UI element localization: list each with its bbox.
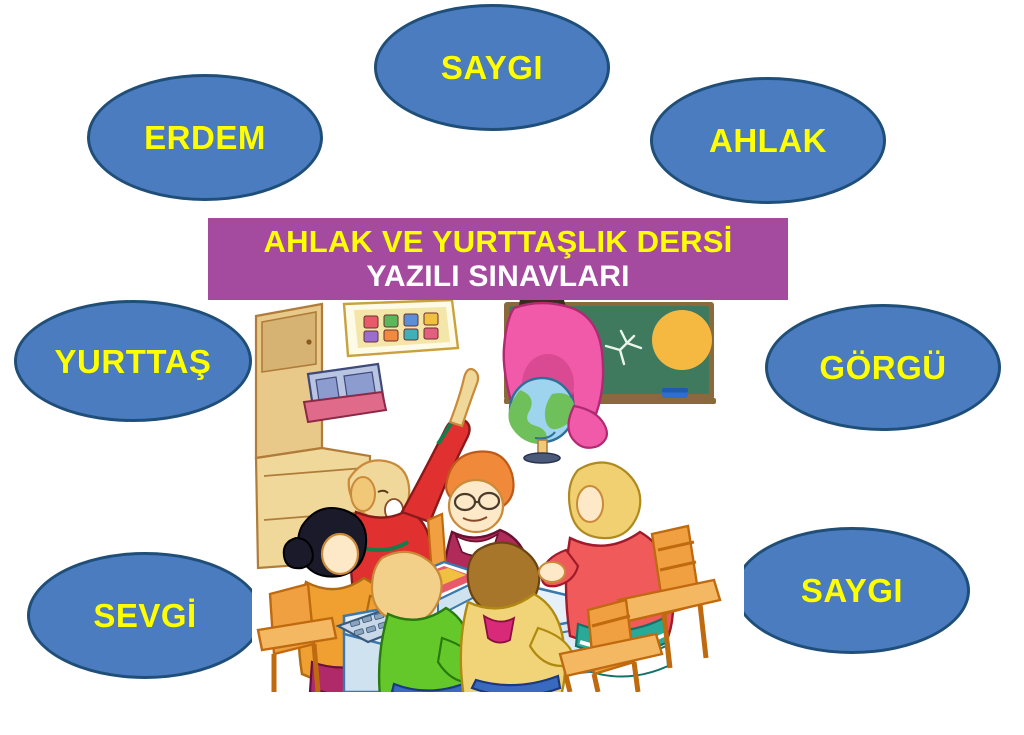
concept-label-erdem: ERDEM [144, 121, 266, 154]
concept-ellipse-sevgi[interactable]: SEVGİ [27, 552, 263, 679]
concept-ellipse-saygi-top[interactable]: SAYGI [374, 4, 610, 131]
concept-label-sevgi: SEVGİ [93, 599, 196, 632]
concept-ellipse-gorgu[interactable]: GÖRGÜ [765, 304, 1001, 431]
concept-label-saygi-bottom: SAYGI [801, 574, 903, 607]
title-line-1: AHLAK VE YURTTAŞLIK DERSİ [264, 225, 733, 260]
concept-label-saygi-top: SAYGI [441, 51, 543, 84]
classroom-illustration [252, 298, 744, 692]
concept-ellipse-yurttas[interactable]: YURTTAŞ [14, 300, 252, 422]
concept-ellipse-saygi-bottom[interactable]: SAYGI [734, 527, 970, 654]
concept-label-ahlak: AHLAK [709, 124, 827, 157]
concept-ellipse-ahlak[interactable]: AHLAK [650, 77, 886, 204]
concept-ellipse-erdem[interactable]: ERDEM [87, 74, 323, 201]
title-banner: AHLAK VE YURTTAŞLIK DERSİ YAZILI SINAVLA… [208, 218, 788, 300]
concept-label-gorgu: GÖRGÜ [819, 351, 946, 384]
wall-poster-icon [344, 300, 458, 356]
poster-canvas: SAYGI ERDEM AHLAK YURTTAŞ GÖRGÜ SEVGİ SA… [0, 0, 1024, 735]
title-line-2: YAZILI SINAVLARI [366, 260, 629, 294]
concept-label-yurttas: YURTTAŞ [55, 345, 212, 378]
